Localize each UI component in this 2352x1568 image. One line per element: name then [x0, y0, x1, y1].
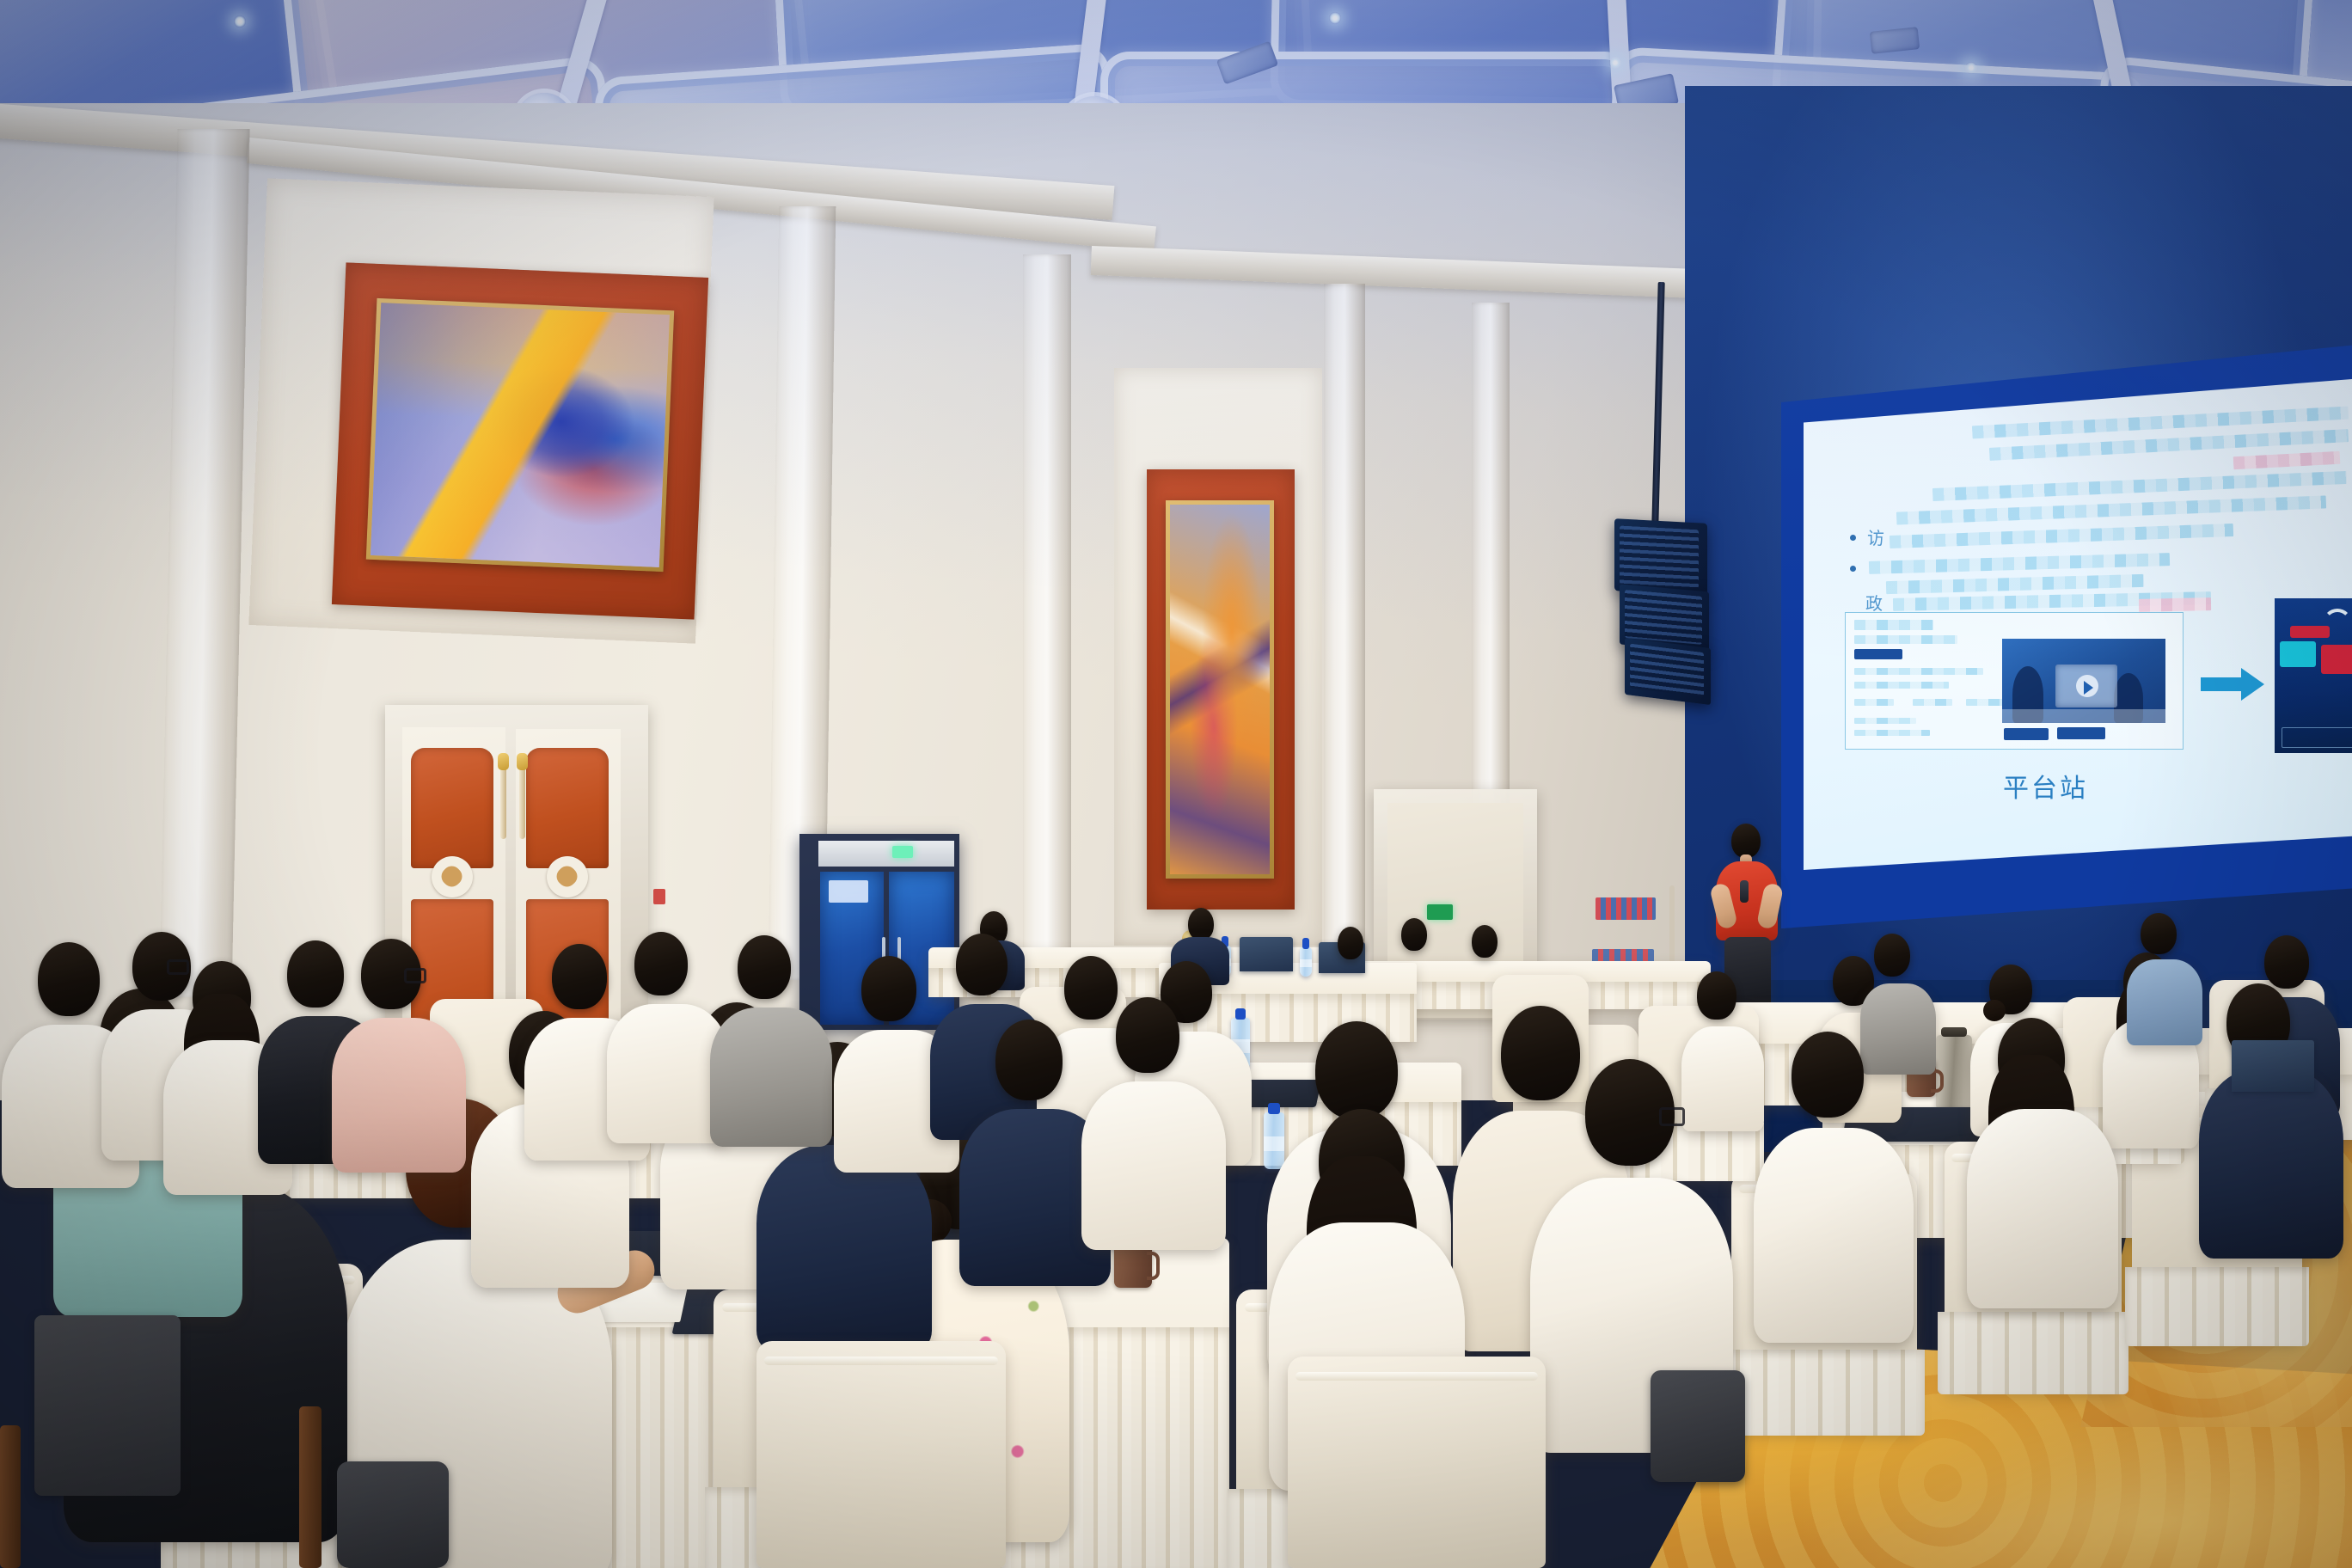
conference-hall-scene: 访 政 [0, 0, 2352, 1568]
attendee-head [1116, 997, 1179, 1073]
attendee-body [710, 1008, 832, 1147]
attendee-head [1315, 1021, 1398, 1119]
obscured-text-line [1869, 553, 2170, 574]
attendee-head [1401, 918, 1427, 951]
attendee-body [1967, 1109, 2118, 1308]
slide-bullet [1850, 535, 1856, 541]
slide-video-thumbnail [2002, 639, 2165, 723]
obscured-text-line [2233, 451, 2341, 469]
attendee-head [552, 944, 607, 1009]
slide-body-char-2: 政 [1865, 590, 1885, 615]
slide-content-card [1845, 612, 2184, 750]
wall-pilaster [1023, 254, 1071, 968]
attendee-head [1188, 908, 1214, 940]
water-bottle [1300, 947, 1312, 977]
attendee-body [1754, 1128, 1914, 1343]
downlight [1329, 12, 1341, 24]
wall-signage [1596, 897, 1656, 920]
glasses-icon [167, 959, 189, 975]
obscured-text-line [1854, 718, 1916, 724]
presentation-slide: 访 政 [1804, 378, 2352, 870]
attendee-head [1792, 1032, 1864, 1118]
laptop[interactable] [2232, 1040, 2314, 1092]
obscured-text-line [1854, 635, 1957, 644]
downlight [1965, 62, 1977, 74]
attendee-head [287, 940, 344, 1008]
downlight [234, 15, 246, 28]
abstract-vertical-painting [1170, 505, 1270, 874]
attendee-head [1338, 927, 1363, 959]
attendee-body [1081, 1081, 1226, 1250]
attendee-head [1064, 956, 1118, 1020]
door-medallion [547, 856, 588, 897]
attendee-body [1860, 983, 1936, 1075]
obscured-text-line [1854, 620, 1933, 630]
slide-body-char-1: 访 [1867, 524, 1887, 549]
slide-tag-badge [1854, 649, 1902, 659]
line-array-loudspeaker [1625, 638, 1711, 705]
attendee-head [193, 961, 251, 1032]
door-medallion [432, 856, 473, 897]
obscured-text-line [1854, 699, 1894, 706]
obscured-text-line [1854, 668, 1983, 675]
banquet-chair [1288, 1357, 1546, 1568]
cooler-temperature-display [892, 846, 913, 858]
attendee-body [2199, 1069, 2343, 1259]
flow-arrow-icon [2201, 677, 2242, 691]
door-handle-left[interactable] [500, 765, 506, 839]
slide-card-button[interactable] [2004, 728, 2049, 740]
slide-bullet [1850, 566, 1856, 572]
obscured-text-line [1890, 524, 2233, 548]
attendee-head [1472, 925, 1498, 958]
laptop[interactable] [1240, 937, 1293, 971]
door-panel [526, 748, 609, 868]
vertical-painting-frame [1166, 500, 1274, 879]
chair-frame [0, 1425, 21, 1568]
glasses-icon [1659, 1107, 1685, 1126]
slide-app-screenshot [2275, 598, 2352, 753]
glasses-icon [404, 968, 426, 983]
banquet-chair [756, 1341, 1006, 1568]
handbag [337, 1461, 449, 1568]
door-handle-right[interactable] [519, 765, 525, 839]
attendee-head [1319, 1109, 1405, 1212]
attendee-body [1681, 1026, 1764, 1131]
attendee-body [2127, 959, 2202, 1045]
play-icon[interactable] [2076, 675, 2098, 697]
obscured-text-line [2139, 597, 2211, 612]
landscape-painting-frame [366, 298, 674, 572]
attendee-head [1998, 1018, 2065, 1099]
obscured-text-line [1966, 699, 2006, 706]
attendee-head [1501, 1006, 1580, 1100]
microphone-icon [1740, 880, 1749, 903]
obscured-text-line [1886, 574, 2144, 594]
slide-card-button[interactable] [2057, 727, 2105, 739]
backpack [34, 1315, 181, 1496]
attendee-head [1874, 934, 1910, 977]
attendee-head [738, 935, 791, 999]
attendee-head [995, 1020, 1063, 1100]
fire-alarm-icon [653, 889, 665, 904]
exit-sign [1427, 904, 1453, 920]
obscured-text-line [1913, 699, 1952, 706]
attendee-body [756, 1145, 932, 1351]
attendee-head [956, 934, 1008, 995]
downlight [1609, 57, 1621, 69]
slide-caption: 平台站 [2003, 767, 2088, 805]
presenter-head [1731, 824, 1761, 858]
obscured-text-line [1854, 730, 1930, 736]
chair-frame [299, 1406, 322, 1568]
handbag [1651, 1370, 1745, 1482]
attendee-head [1697, 971, 1736, 1020]
attendee-head [2264, 935, 2309, 989]
attendee-head [634, 932, 688, 995]
attendee-head [861, 956, 916, 1021]
attendee-head [1989, 965, 2032, 1014]
water-bottle [1264, 1112, 1284, 1169]
attendee-head [38, 942, 100, 1016]
door-panel [411, 748, 493, 868]
attendee-body [332, 1018, 466, 1173]
abstract-landscape-painting [371, 303, 670, 567]
attendee-head [2141, 913, 2177, 954]
obscured-text-line [1854, 682, 1949, 689]
wall-pilaster [1324, 284, 1365, 963]
